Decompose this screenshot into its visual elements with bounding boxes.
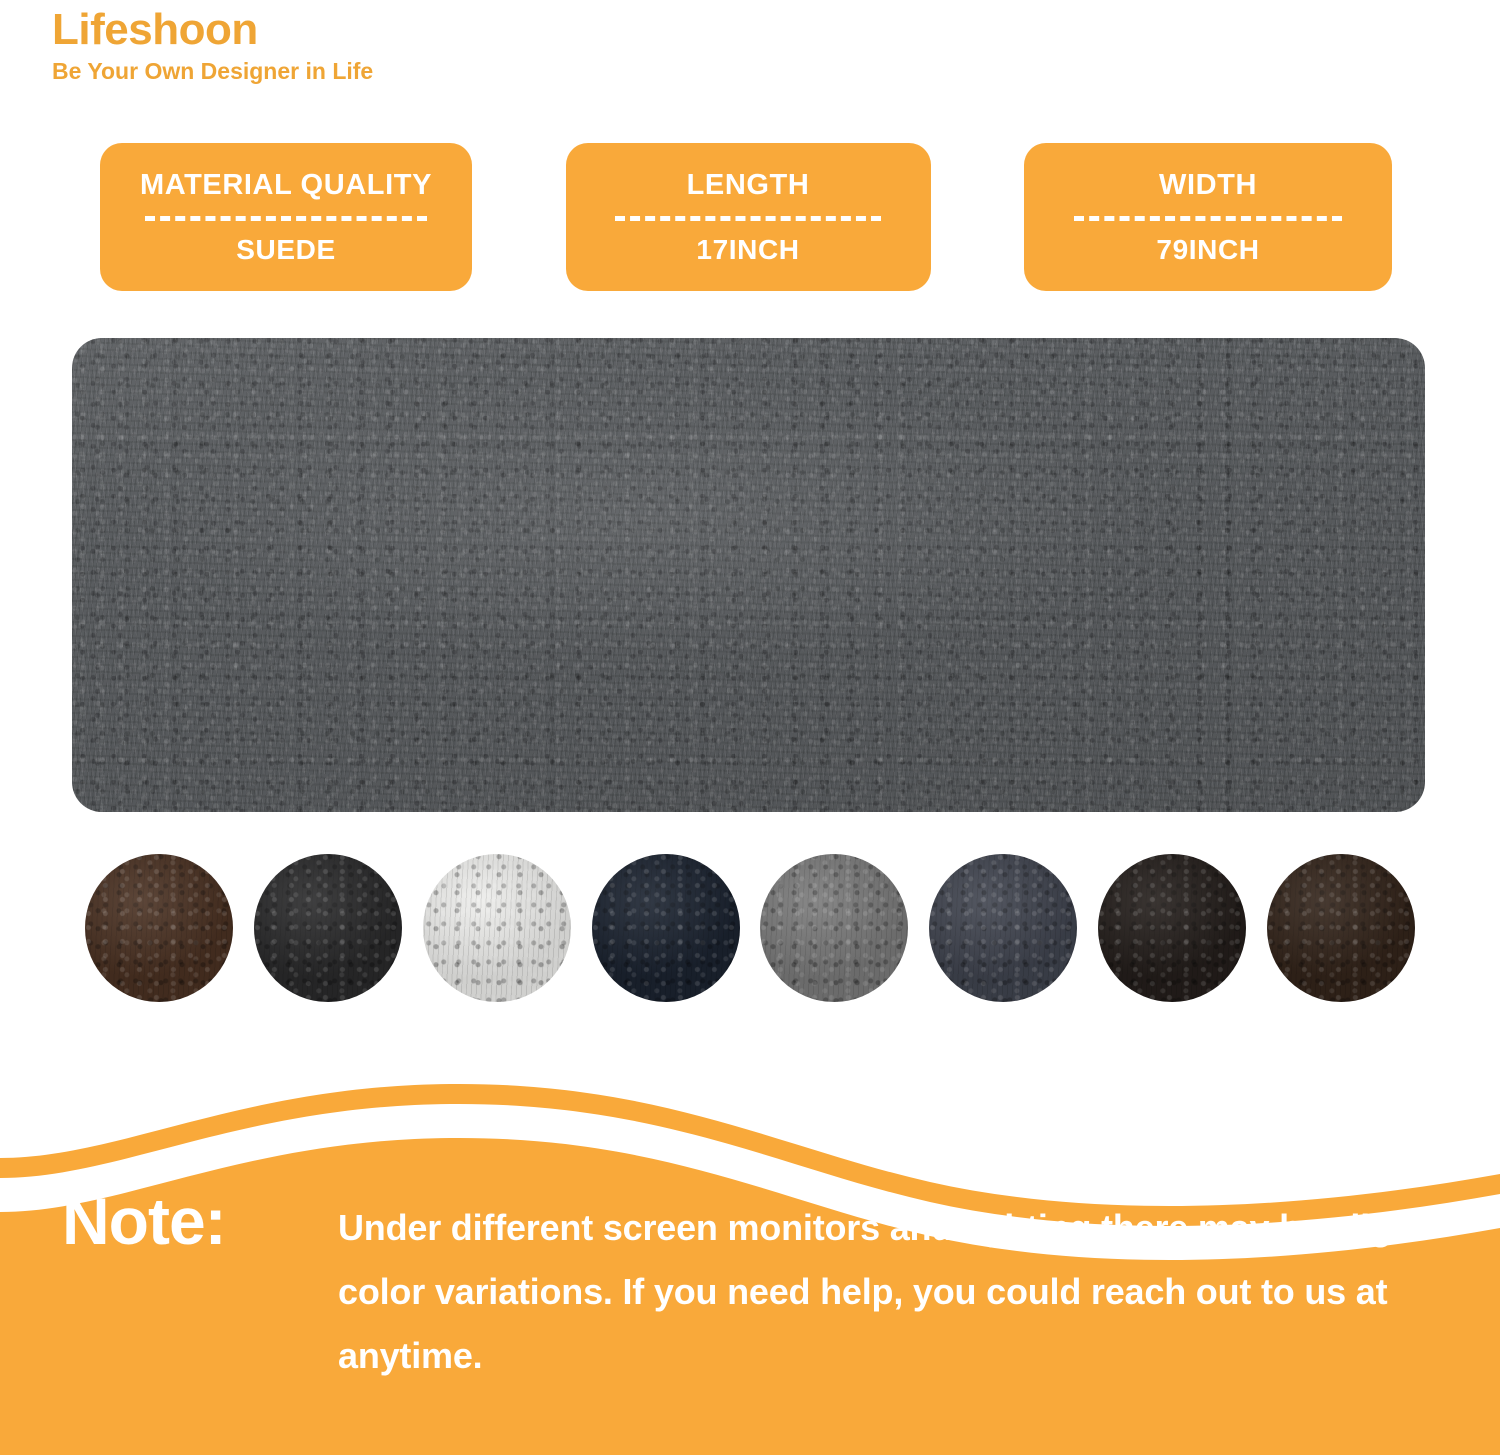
spec-label: WIDTH <box>1159 171 1257 200</box>
note-footer: Note: Under different screen monitors an… <box>0 1062 1500 1455</box>
spec-badge-width: WIDTH 79INCH <box>1024 143 1392 291</box>
spec-value: 79INCH <box>1156 236 1259 264</box>
dashed-divider <box>145 216 427 221</box>
dashed-divider <box>615 216 882 221</box>
color-swatch-row <box>85 853 1415 1003</box>
swatch-shading <box>1267 854 1415 1002</box>
spec-label: LENGTH <box>687 171 810 200</box>
swatch-shading <box>1098 854 1246 1002</box>
spec-value: 17INCH <box>696 236 799 264</box>
color-swatch-cream-white[interactable] <box>423 854 571 1002</box>
note-text: Under different screen monitors and ligh… <box>338 1196 1458 1388</box>
color-swatch-dark-brown[interactable] <box>85 854 233 1002</box>
brand-tagline: Be Your Own Designer in Life <box>52 58 752 86</box>
note-label: Note: <box>62 1188 226 1254</box>
spec-badge-material-quality: MATERIAL QUALITY SUEDE <box>100 143 472 291</box>
color-swatch-medium-gray[interactable] <box>760 854 908 1002</box>
swatch-shading <box>760 854 908 1002</box>
brand-name: Lifeshoon <box>52 6 752 54</box>
color-swatch-navy-blue[interactable] <box>592 854 740 1002</box>
swatch-shading <box>929 854 1077 1002</box>
swatch-shading <box>85 854 233 1002</box>
color-swatch-slate-gray[interactable] <box>929 854 1077 1002</box>
color-swatch-espresso-black[interactable] <box>1098 854 1246 1002</box>
color-swatch-charcoal-black[interactable] <box>254 854 402 1002</box>
swatch-shading <box>254 854 402 1002</box>
swatch-shading <box>592 854 740 1002</box>
dashed-divider <box>1074 216 1343 221</box>
brand-header: Lifeshoon Be Your Own Designer in Life <box>52 6 752 85</box>
swatch-shading <box>423 854 571 1002</box>
color-swatch-coffee-brown[interactable] <box>1267 854 1415 1002</box>
rug-shading-overlay <box>72 338 1425 812</box>
spec-badge-row: MATERIAL QUALITY SUEDE LENGTH 17INCH WID… <box>100 143 1392 291</box>
spec-badge-length: LENGTH 17INCH <box>566 143 931 291</box>
note-content: Note: Under different screen monitors an… <box>0 1062 1500 1455</box>
spec-value: SUEDE <box>236 236 335 264</box>
spec-label: MATERIAL QUALITY <box>140 171 432 200</box>
product-image-rug <box>72 338 1425 812</box>
